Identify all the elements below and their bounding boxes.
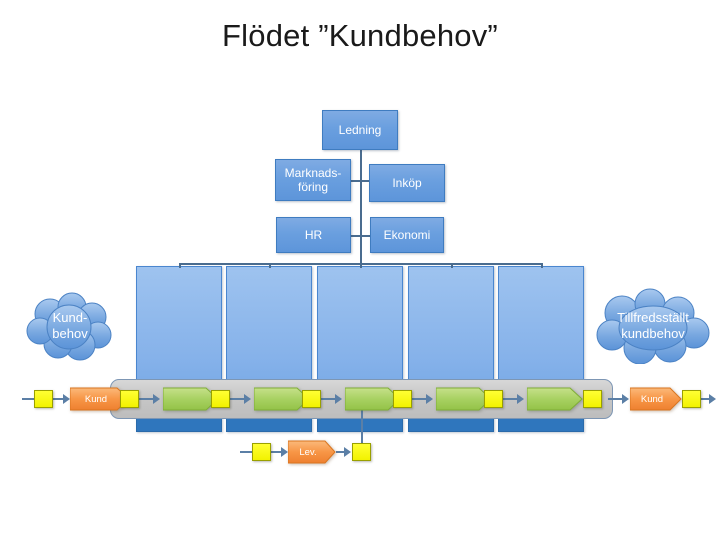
connector-dept-4	[451, 263, 453, 268]
actor-kund-out[interactable]: Kund	[630, 387, 682, 411]
pentagon-arrow-orange-out-icon	[630, 387, 682, 411]
flow-square-6[interactable]	[583, 390, 602, 408]
flow-square-lev-in[interactable]	[252, 443, 271, 461]
connector-dept-5	[541, 263, 543, 268]
dept-label-lager: Lager	[408, 481, 494, 494]
dept-label-produktion: Produktion	[317, 481, 403, 494]
org-box-inkop[interactable]: Inköp	[369, 164, 445, 202]
page-title: Flödet ”Kundbehov”	[0, 18, 720, 54]
dept-foot-distribution	[498, 418, 584, 432]
dept-foot-forsaljning	[136, 418, 222, 432]
flow-line-out-1	[608, 398, 622, 400]
flow-arrowhead-in-1	[63, 394, 70, 404]
dept-label-lager-line1: Lager	[408, 481, 494, 494]
org-box-marknadsforing-label-1: Marknads-	[285, 166, 342, 180]
dept-label-produktion-line1: Produktion	[317, 481, 403, 494]
flow-arrowhead-lev-2	[344, 447, 351, 457]
flow-line-5	[503, 398, 517, 400]
flow-line-lev-start	[240, 451, 252, 453]
flow-square-out[interactable]	[682, 390, 701, 408]
flow-line-in-1	[53, 398, 63, 400]
cloud-shape-left-icon	[24, 290, 116, 362]
flow-square-1[interactable]	[120, 390, 139, 408]
flow-arrowhead-lev-1	[281, 447, 288, 457]
connector-dept-3	[360, 263, 362, 268]
dept-label-distribution-line1: Distribution	[498, 481, 584, 494]
dept-label-ordermottagning: Order- mottagning	[226, 476, 312, 502]
flow-square-3[interactable]	[302, 390, 321, 408]
flow-square-5[interactable]	[484, 390, 503, 408]
connector-dept-1	[179, 263, 181, 268]
org-box-inkop-label: Inköp	[392, 176, 421, 190]
org-box-hr-label: HR	[305, 228, 322, 242]
org-box-ekonomi-label: Ekonomi	[384, 228, 431, 242]
flow-line-1	[139, 398, 153, 400]
dept-foot-produktion	[317, 418, 403, 432]
dept-foot-lager	[408, 418, 494, 432]
flow-square-lev-out[interactable]	[352, 443, 371, 461]
flow-arrowhead-1	[153, 394, 160, 404]
flow-square-2[interactable]	[211, 390, 230, 408]
cloud-kundbehov[interactable]: Kund- behov	[24, 290, 116, 362]
flow-arrowhead-5	[517, 394, 524, 404]
dept-label-distribution: Distribution	[498, 481, 584, 494]
cloud-shape-right-icon	[592, 288, 714, 364]
dept-foot-ordermottagning	[226, 418, 312, 432]
flow-arrowhead-4	[426, 394, 433, 404]
org-box-marknadsforing[interactable]: Marknads- föring	[275, 159, 351, 201]
flow-line-in-start	[22, 398, 34, 400]
flow-arrowhead-3	[335, 394, 342, 404]
actor-lev[interactable]: Lev.	[288, 440, 336, 464]
org-box-hr[interactable]: HR	[276, 217, 351, 253]
flow-line-out-2	[701, 398, 709, 400]
pentagon-arrow-green-5-icon	[527, 387, 583, 411]
org-box-ledning-label: Ledning	[339, 123, 382, 137]
connector-ledning-down	[360, 150, 362, 264]
flow-line-3	[321, 398, 335, 400]
slide-canvas: Flödet ”Kundbehov” Ledning Marknads- för…	[0, 0, 720, 540]
flow-line-lev-1	[271, 451, 281, 453]
dept-label-forsaljning-line1: Försäljning	[136, 481, 222, 494]
flow-square-in-0[interactable]	[34, 390, 53, 408]
flow-arrowhead-out-1	[622, 394, 629, 404]
connector-dept-2	[269, 263, 271, 268]
cloud-tillfredsstallt-kundbehov[interactable]: Tillfredsställt kundbehov	[592, 288, 714, 364]
process-step-distribution[interactable]	[527, 387, 583, 411]
org-box-ledning[interactable]: Ledning	[322, 110, 398, 150]
flow-line-4	[412, 398, 426, 400]
flow-square-4[interactable]	[393, 390, 412, 408]
org-box-ekonomi[interactable]: Ekonomi	[370, 217, 444, 253]
dept-label-ordermottagning-line2: mottagning	[226, 489, 312, 502]
pentagon-arrow-orange-lev-icon	[288, 440, 336, 464]
flow-line-2	[230, 398, 244, 400]
flow-arrowhead-2	[244, 394, 251, 404]
dept-label-forsaljning: Försäljning	[136, 481, 222, 494]
flow-arrowhead-out-2	[709, 394, 716, 404]
dept-label-ordermottagning-line1: Order-	[226, 476, 312, 489]
org-box-marknadsforing-label-2: föring	[298, 180, 328, 194]
flow-line-lev-up	[361, 408, 363, 446]
